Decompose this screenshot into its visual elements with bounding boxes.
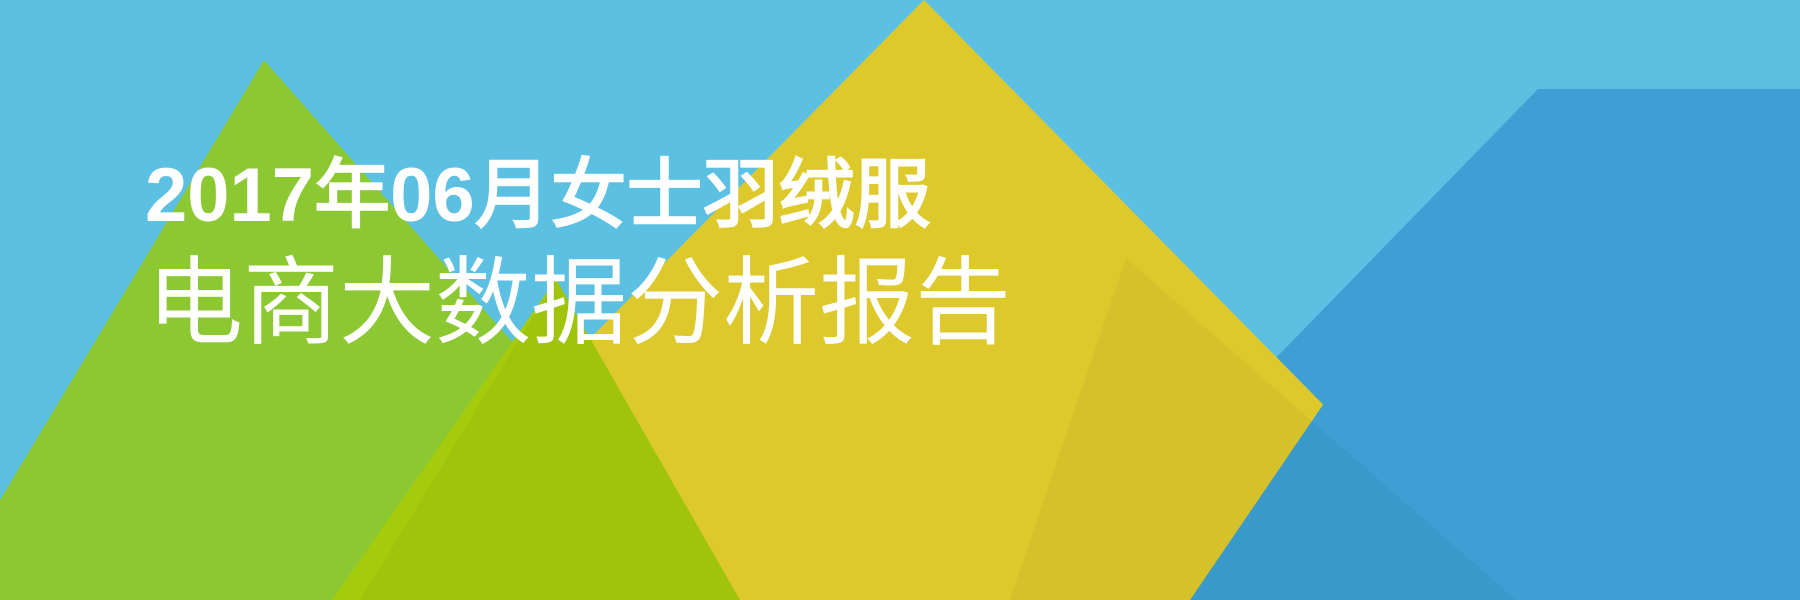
background-artwork [0, 0, 1800, 600]
title-banner: 2017年06月女士羽绒服 电商大数据分析报告 [0, 0, 1800, 600]
